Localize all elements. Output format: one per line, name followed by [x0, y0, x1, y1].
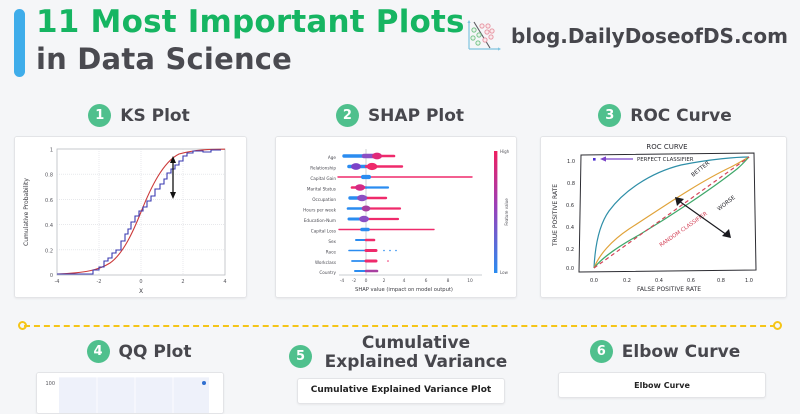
svg-text:Workclass: Workclass: [315, 260, 336, 265]
svg-text:Occupation: Occupation: [312, 197, 336, 202]
svg-text:0.8: 0.8: [717, 278, 725, 284]
svg-text:0.6: 0.6: [45, 198, 53, 204]
svg-text:0: 0: [50, 273, 53, 279]
shap-plot-panel: Age Relationship Capital Gain Marital St…: [275, 136, 517, 298]
svg-text:0.8: 0.8: [45, 173, 53, 179]
svg-text:Capital Loss: Capital Loss: [311, 229, 336, 234]
section-divider: [18, 321, 782, 331]
card-badge-6: 6: [590, 340, 613, 363]
svg-text:Education-Num: Education-Num: [304, 218, 336, 223]
card-header-2: 2 SHAP Plot: [275, 104, 525, 127]
infographic-page: 11 Most Important Plots in Data Science: [0, 0, 800, 400]
svg-text:FALSE POSITIVE RATE: FALSE POSITIVE RATE: [637, 286, 701, 293]
divider-dashed-line: [24, 325, 776, 327]
svg-text:0: 0: [139, 279, 142, 285]
svg-text:0.2: 0.2: [45, 248, 53, 254]
svg-text:Hours per week: Hours per week: [303, 208, 336, 213]
card-roc-curve[interactable]: 3 ROC Curve ROC CURVE 1.0 0.8 0.6 0.4 0.…: [540, 104, 790, 298]
svg-text:0.6: 0.6: [687, 278, 695, 284]
svg-text:6: 6: [425, 278, 428, 284]
roc-curve-panel: ROC CURVE 1.0 0.8 0.6 0.4 0.2 0.0 0.0 0.…: [540, 136, 787, 298]
card-title-2: SHAP Plot: [368, 106, 464, 126]
svg-text:SHAP value (impact on model ou: SHAP value (impact on model output): [355, 287, 453, 293]
cev-plot-title: Cumulative Explained Variance Plot: [298, 379, 504, 395]
card-title-3: ROC Curve: [630, 106, 732, 126]
accent-bar: [14, 9, 25, 77]
card-header-5: 5 Cumulative Explained Variance: [275, 334, 525, 372]
qq-plot-panel: 100: [36, 372, 224, 414]
svg-text:4: 4: [403, 278, 406, 284]
svg-text:0.2: 0.2: [566, 247, 574, 253]
svg-text:0.4: 0.4: [566, 225, 574, 231]
svg-text:0.4: 0.4: [45, 223, 53, 229]
svg-text:0.2: 0.2: [623, 278, 631, 284]
card-header-1: 1 KS Plot: [14, 104, 264, 127]
card-shap-plot[interactable]: 2 SHAP Plot Age Relationship Capital Gai…: [275, 104, 525, 298]
brand-label: blog.DailyDoseofDS.com: [511, 24, 788, 48]
card-title-6: Elbow Curve: [622, 342, 741, 362]
svg-text:X: X: [139, 288, 143, 295]
card-title-1: KS Plot: [120, 106, 189, 126]
svg-text:Cumulative Probability: Cumulative Probability: [23, 178, 30, 246]
svg-text:8: 8: [447, 278, 450, 284]
svg-text:Age: Age: [328, 155, 337, 160]
card-cumulative-explained-variance[interactable]: 5 Cumulative Explained Variance Cumulati…: [275, 334, 525, 404]
svg-text:0.0: 0.0: [566, 266, 574, 272]
ks-plot-chart: 1 0.8 0.6 0.4 0.2 0 -4 -2 0 2 4 X Cumula…: [15, 137, 246, 297]
card-badge-2: 2: [336, 104, 359, 127]
svg-text:0.0: 0.0: [590, 278, 598, 284]
svg-text:Low: Low: [500, 270, 509, 275]
svg-text:Race: Race: [326, 250, 337, 255]
ks-plot-panel: 1 0.8 0.6 0.4 0.2 0 -4 -2 0 2 4 X Cumula…: [14, 136, 247, 298]
title-line-2: in Data Science: [36, 41, 465, 77]
card-badge-5: 5: [289, 345, 312, 368]
svg-text:-4: -4: [55, 279, 60, 285]
svg-text:PERFECT CLASSIFIER: PERFECT CLASSIFIER: [637, 157, 694, 163]
card-ks-plot[interactable]: 1 KS Plot 1 0.8 0.6 0.4 0.2: [14, 104, 264, 298]
card-header-3: 3 ROC Curve: [540, 104, 790, 127]
svg-text:Country: Country: [319, 270, 336, 275]
svg-text:TRUE POSITIVE RATE: TRUE POSITIVE RATE: [552, 184, 559, 247]
header: 11 Most Important Plots in Data Science: [0, 0, 800, 92]
card-elbow-curve[interactable]: 6 Elbow Curve Elbow Curve: [540, 340, 790, 398]
svg-text:Capital Gain: Capital Gain: [310, 176, 336, 181]
svg-text:-4: -4: [340, 278, 345, 284]
svg-text:1.0: 1.0: [745, 278, 753, 284]
divider-dot-right: [773, 321, 782, 330]
svg-text:2: 2: [181, 279, 184, 285]
svg-text:2: 2: [383, 278, 386, 284]
svg-text:High: High: [500, 149, 510, 154]
card-qq-plot[interactable]: 4 QQ Plot 100: [14, 340, 264, 414]
card-header-4: 4 QQ Plot: [14, 340, 264, 363]
card-badge-4: 4: [87, 340, 110, 363]
svg-text:Sex: Sex: [328, 239, 336, 244]
svg-text:-2: -2: [352, 278, 357, 284]
svg-text:0: 0: [365, 278, 368, 284]
svg-text:0.4: 0.4: [655, 278, 663, 284]
qq-plot-chart: 100: [37, 373, 223, 413]
scatter-plot-logo-icon: [463, 18, 503, 54]
elbow-plot-title: Elbow Curve: [559, 373, 765, 390]
svg-text:1: 1: [50, 148, 53, 154]
svg-text:Relationship: Relationship: [310, 166, 336, 171]
card-badge-3: 3: [598, 104, 621, 127]
card-title-5: Cumulative Explained Variance: [321, 334, 511, 372]
roc-curve-chart: ROC CURVE 1.0 0.8 0.6 0.4 0.2 0.0 0.0 0.…: [541, 137, 786, 297]
cumulative-explained-variance-panel: Cumulative Explained Variance Plot: [297, 378, 505, 404]
brand[interactable]: blog.DailyDoseofDS.com: [463, 18, 788, 54]
svg-text:Feature value: Feature value: [504, 198, 509, 226]
card-title-4: QQ Plot: [119, 342, 192, 362]
svg-text:ROC CURVE: ROC CURVE: [646, 143, 687, 151]
page-title: 11 Most Important Plots in Data Science: [36, 3, 465, 77]
card-header-6: 6 Elbow Curve: [540, 340, 790, 363]
svg-text:Marital Status: Marital Status: [307, 187, 336, 192]
svg-text:0.6: 0.6: [566, 203, 574, 209]
svg-text:-2: -2: [97, 279, 102, 285]
svg-text:0.8: 0.8: [567, 181, 575, 187]
shap-plot-chart: Age Relationship Capital Gain Marital St…: [276, 137, 516, 297]
svg-text:100: 100: [45, 381, 55, 387]
svg-text:10: 10: [467, 278, 473, 284]
svg-text:4: 4: [223, 279, 226, 285]
elbow-curve-panel: Elbow Curve: [558, 372, 766, 398]
title-line-1: 11 Most Important Plots: [36, 3, 465, 41]
card-badge-1: 1: [88, 104, 111, 127]
svg-text:1.0: 1.0: [567, 159, 575, 165]
